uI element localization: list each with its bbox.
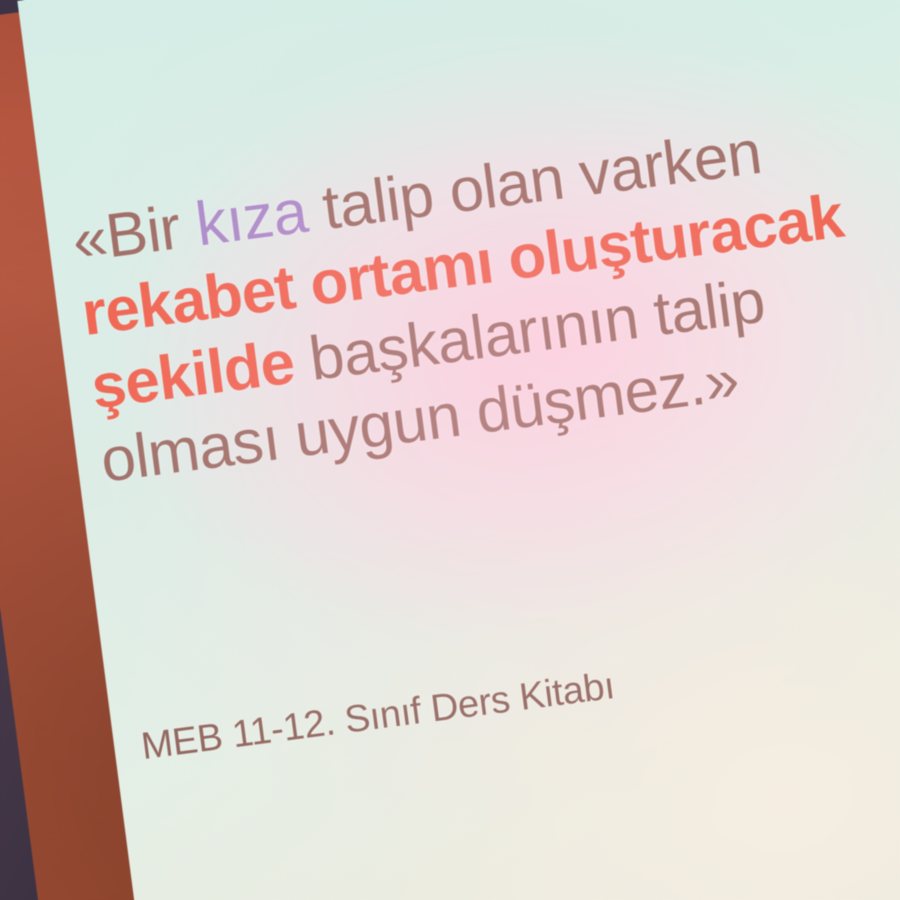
quote-line-1-segment-1: «Bir xyxy=(68,191,200,275)
slide-quote-block: «Bir kıza talip olan varken rekabet orta… xyxy=(69,81,900,503)
photo-canvas: «Bir kıza talip olan varken rekabet orta… xyxy=(0,0,900,900)
quote-highlight-word-kiza: kıza xyxy=(192,177,311,260)
slide-attribution-source: MEB 11-12. Sınıf Ders Kitabı xyxy=(139,665,617,769)
projected-slide-surface: «Bir kıza talip olan varken rekabet orta… xyxy=(17,0,900,900)
